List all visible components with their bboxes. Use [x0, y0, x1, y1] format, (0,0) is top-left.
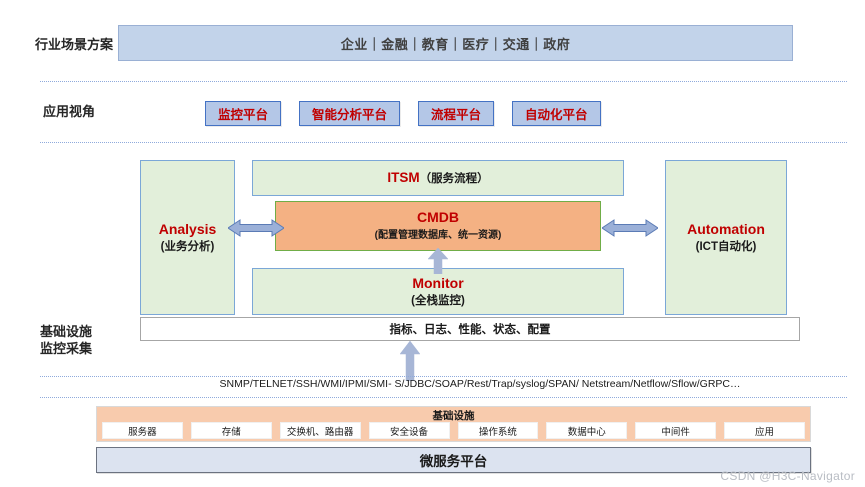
protocol-list: SNMP/TELNET/SSH/WMI/IPMI/SMI- S/JDBC/SOA…	[140, 378, 820, 390]
infra-item-label: 存储	[222, 424, 241, 438]
platform-button-automation[interactable]: 自动化平台	[512, 101, 601, 126]
infra-item-application[interactable]: 应用	[724, 422, 805, 439]
collection-bar-text: 指标、日志、性能、状态、配置	[390, 321, 551, 337]
infra-item-label: 中间件	[661, 424, 690, 438]
up-arrow-icon-infra-collect	[400, 341, 420, 381]
infra-item-security[interactable]: 安全设备	[369, 422, 450, 439]
platform-button-label: 流程平台	[431, 104, 481, 123]
infra-item-network[interactable]: 交换机、路由器	[280, 422, 361, 439]
infrastructure-title: 基础设施	[97, 408, 810, 423]
double-arrow-icon-cmdb-automation	[602, 218, 658, 238]
divider-collect-protocols	[40, 376, 847, 377]
microservice-platform-label: 微服务平台	[420, 450, 488, 470]
divider-appview-core	[40, 142, 847, 143]
cmdb-title: CMDB	[417, 208, 459, 227]
cmdb-box[interactable]: CMDB (配置管理数据库、统一资源)	[275, 201, 601, 251]
infrastructure-panel: 基础设施 服务器 存储 交换机、路由器 安全设备 操作系统 数据中心 中间件	[96, 406, 811, 442]
infra-item-datacenter[interactable]: 数据中心	[546, 422, 627, 439]
platform-button-monitor[interactable]: 监控平台	[205, 101, 281, 126]
platform-button-process[interactable]: 流程平台	[418, 101, 494, 126]
infra-item-label: 数据中心	[568, 424, 606, 438]
monitor-title: Monitor	[412, 274, 463, 293]
app-platform-row: 监控平台 智能分析平台 流程平台 自动化平台	[205, 101, 601, 126]
infra-item-middleware[interactable]: 中间件	[635, 422, 716, 439]
monitor-subtitle: (全栈监控)	[411, 293, 465, 310]
up-arrow-icon-monitor-cmdb	[428, 248, 448, 274]
itsm-title: ITSM	[387, 170, 419, 185]
platform-button-label: 监控平台	[218, 104, 268, 123]
analysis-title: Analysis	[159, 220, 217, 239]
platform-button-label: 智能分析平台	[312, 104, 387, 123]
architecture-diagram: 行业场景方案 企业｜金融｜教育｜医疗｜交通｜政府 应用视角 监控平台 智能分析平…	[0, 0, 865, 487]
industry-banner: 企业｜金融｜教育｜医疗｜交通｜政府	[118, 25, 793, 61]
automation-box[interactable]: Automation (ICT自动化)	[665, 160, 787, 315]
divider-industry-appview	[40, 81, 847, 82]
itsm-title-group: ITSM（服务流程）	[387, 170, 488, 186]
double-arrow-icon-analysis-cmdb	[228, 218, 284, 238]
infra-item-label: 服务器	[128, 424, 157, 438]
platform-button-label: 自动化平台	[525, 104, 588, 123]
monitor-box[interactable]: Monitor (全栈监控)	[252, 268, 624, 315]
platform-button-analytics[interactable]: 智能分析平台	[299, 101, 400, 126]
infrastructure-item-list: 服务器 存储 交换机、路由器 安全设备 操作系统 数据中心 中间件 应用	[102, 422, 805, 439]
infra-item-label: 交换机、路由器	[287, 424, 354, 438]
row-label-appview: 应用视角	[43, 103, 95, 120]
row-label-industry: 行业场景方案	[35, 36, 113, 53]
automation-title: Automation	[687, 220, 765, 239]
infra-item-server[interactable]: 服务器	[102, 422, 183, 439]
infra-item-storage[interactable]: 存储	[191, 422, 272, 439]
infra-item-label: 安全设备	[390, 424, 428, 438]
analysis-subtitle: (业务分析)	[161, 239, 215, 256]
divider-protocols-infra	[40, 397, 847, 398]
analysis-box[interactable]: Analysis (业务分析)	[140, 160, 235, 315]
infra-item-label: 应用	[755, 424, 774, 438]
cmdb-subtitle: (配置管理数据库、统一资源)	[375, 227, 502, 244]
industry-banner-text: 企业｜金融｜教育｜医疗｜交通｜政府	[341, 34, 571, 53]
row-label-infra-collect: 基础设施 监控采集	[40, 323, 92, 357]
automation-subtitle: (ICT自动化)	[696, 239, 757, 256]
collection-bar: 指标、日志、性能、状态、配置	[140, 317, 800, 341]
infra-item-os[interactable]: 操作系统	[458, 422, 539, 439]
microservice-platform-bar: 微服务平台	[96, 447, 811, 473]
watermark: CSDN @H3C-Navigator	[720, 469, 855, 483]
itsm-subtitle: （服务流程）	[420, 173, 489, 185]
infra-item-label: 操作系统	[479, 424, 517, 438]
itsm-box[interactable]: ITSM（服务流程）	[252, 160, 624, 196]
